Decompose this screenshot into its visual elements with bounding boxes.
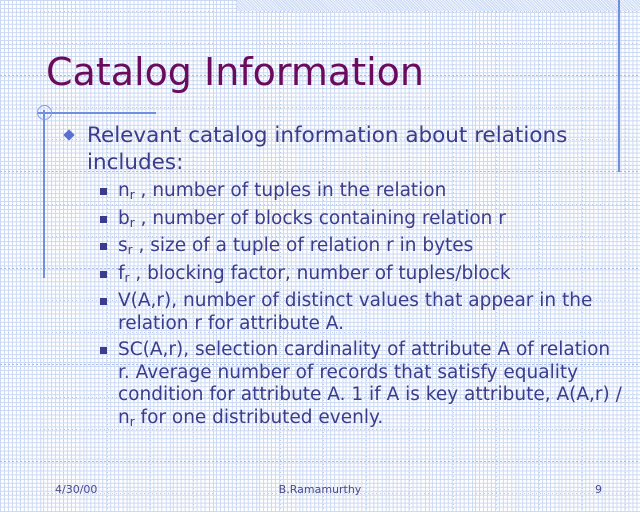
grid-hline [0,107,640,108]
square-bullet-icon [100,271,107,278]
circle-decoration-icon [37,105,52,120]
lead-bullet: Relevant catalog information about relat… [62,122,622,176]
grid-vline [20,0,21,512]
diamond-bullet-icon [63,129,74,140]
item-tail-subscript: r [130,415,135,429]
slide-footer: 4/30/00 B.Ramamurthy 9 [0,483,640,503]
item-text: , number of tuples in the relation [135,180,447,201]
item-text: , size of a tuple of relation r in bytes [133,235,474,256]
item-subscript: r [128,243,133,257]
title-underline-rule [38,112,156,114]
lead-line-2: includes: [87,150,183,175]
square-bullet-icon [100,216,107,223]
item-text: V(A,r), number of distinct values that a… [118,290,592,334]
list-item: nr , number of tuples in the relation [62,180,622,204]
footer-author: B.Ramamurthy [0,483,640,496]
item-text: , number of blocks containing relation r [135,208,506,229]
square-bullet-icon [100,243,107,250]
item-subscript: r [130,216,135,230]
item-symbol: s [118,235,128,256]
list-item: SC(A,r), selection cardinality of attrib… [62,339,622,430]
item-text: , blocking factor, number of tuples/bloc… [129,263,510,284]
list-item: V(A,r), number of distinct values that a… [62,290,622,335]
grid-hline [0,461,640,462]
slide-canvas: Catalog Information Relevant catalog inf… [0,0,640,512]
item-subscript: r [130,188,135,202]
item-subscript: r [125,271,130,285]
page-title: Catalog Information [46,50,424,94]
grid-vline [625,0,626,512]
square-bullet-icon [100,298,107,305]
list-item: sr , size of a tuple of relation r in by… [62,235,622,259]
item-symbol: f [118,263,125,284]
list-item: fr , blocking factor, number of tuples/b… [62,263,622,287]
list-item: br , number of blocks containing relatio… [62,208,622,232]
grid-hline [0,43,640,44]
slide-body: Relevant catalog information about relat… [62,122,622,430]
item-symbol: n [118,180,130,201]
top-accent-bar [237,0,640,11]
square-bullet-icon [100,188,107,195]
item-tail-text: for one distributed evenly. [135,407,384,428]
item-symbol: b [118,208,130,229]
square-bullet-icon [100,347,107,354]
sub-bullet-list: nr , number of tuples in the relation br… [62,180,622,430]
footer-page-number: 9 [595,483,602,496]
grid-hline [0,11,640,12]
left-vertical-rule [43,110,45,278]
lead-line-1: Relevant catalog information about relat… [87,123,567,148]
